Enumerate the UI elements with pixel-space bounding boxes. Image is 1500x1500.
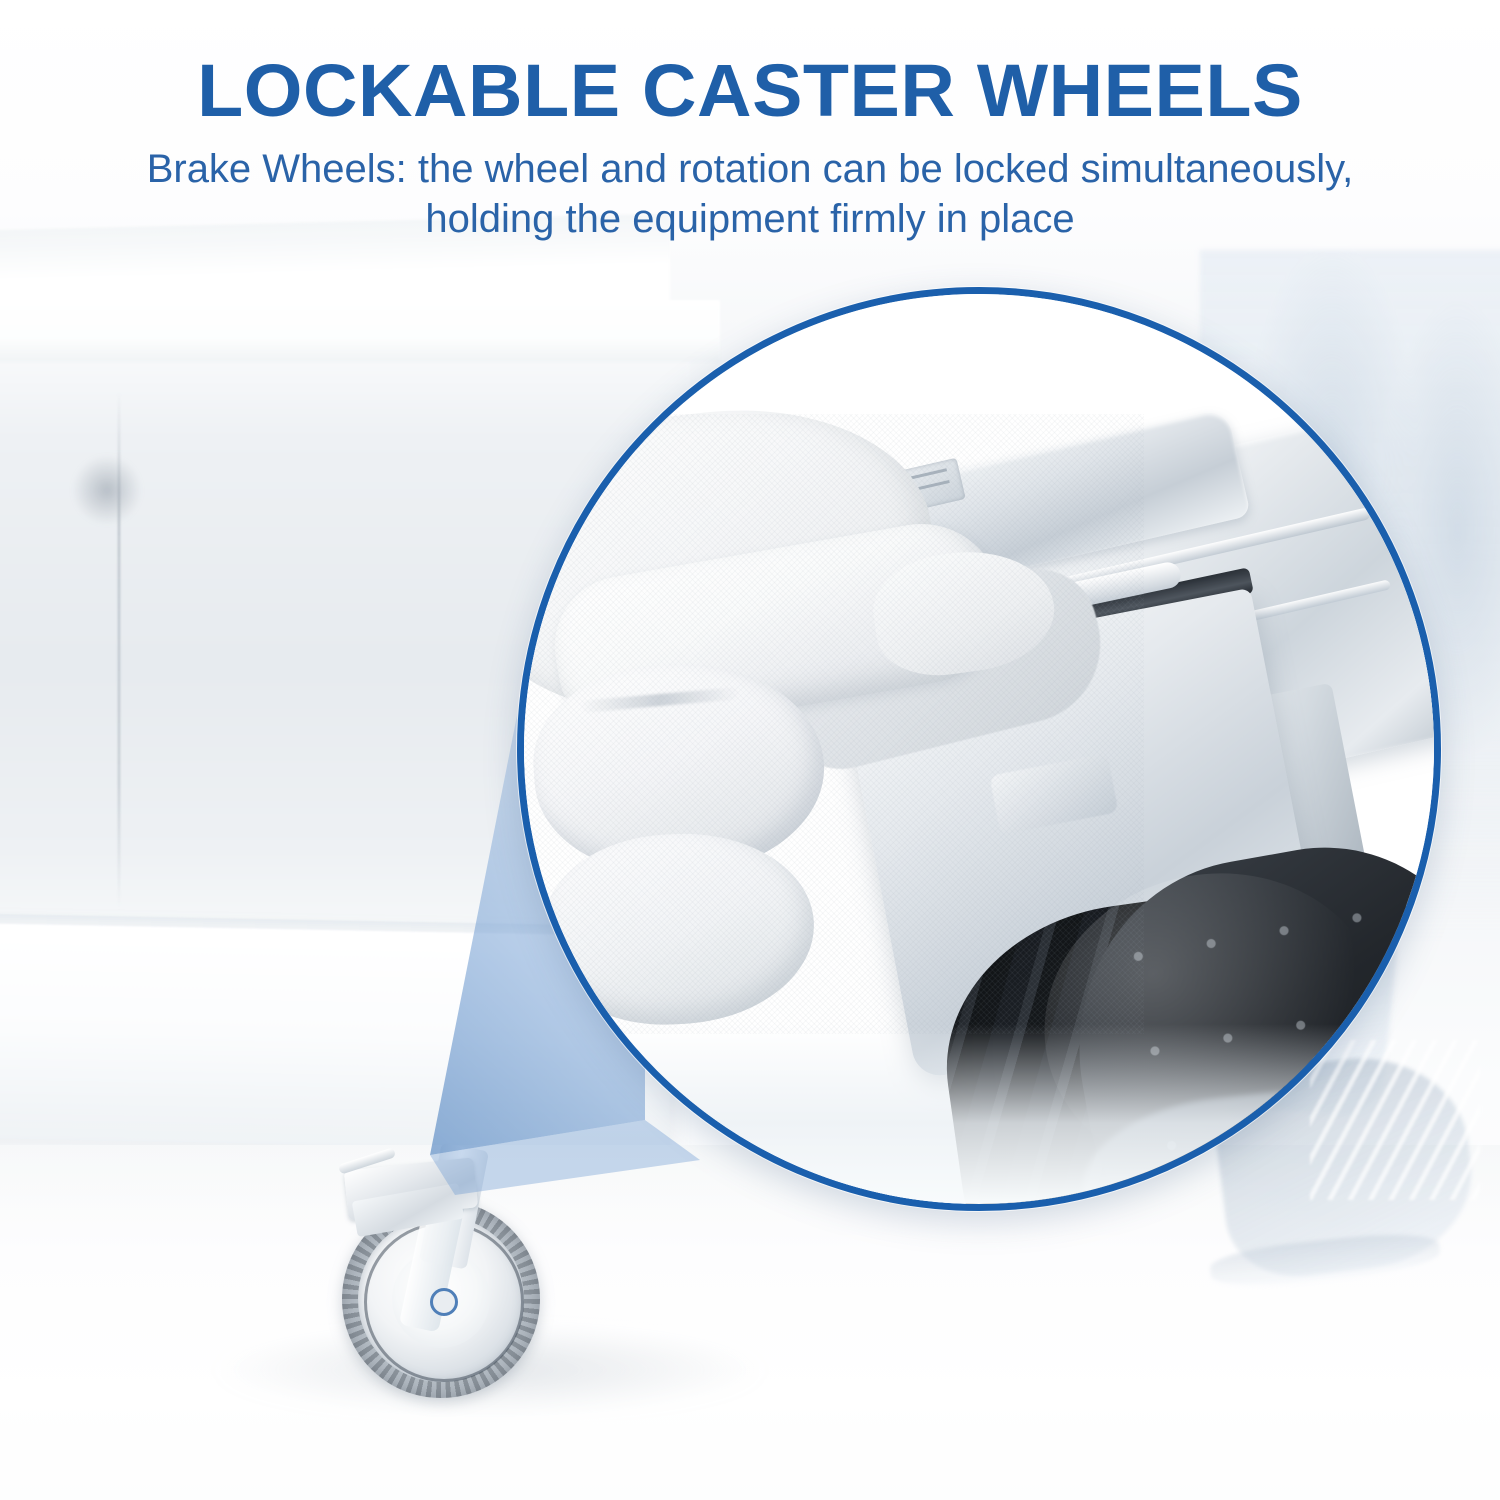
header: LOCKABLE CASTER WHEELS Brake Wheels: the…	[0, 0, 1500, 245]
page-title: LOCKABLE CASTER WHEELS	[0, 54, 1500, 128]
caster-wheel-photo	[318, 1150, 558, 1410]
chevron-down-icon	[1376, 1042, 1434, 1098]
chevron-down-icon	[1376, 1106, 1434, 1162]
magnifier-circle: Press down to lock the wheel	[517, 287, 1441, 1211]
glove-fabric-texture	[524, 414, 1144, 1034]
caster-axle	[430, 1288, 458, 1316]
press-down-arrows	[1376, 1042, 1434, 1204]
gloved-hand	[524, 294, 1434, 1204]
magnifier-content: Press down to lock the wheel	[524, 294, 1434, 1204]
subtitle-line-1: Brake Wheels: the wheel and rotation can…	[50, 144, 1450, 194]
subtitle-line-2: holding the equipment firmly in place	[50, 194, 1450, 244]
page-subtitle: Brake Wheels: the wheel and rotation can…	[50, 144, 1450, 245]
infographic-canvas: Press down to lock the wheel LOCKABLE CA…	[0, 0, 1500, 1500]
chevron-down-icon	[1376, 1170, 1434, 1204]
